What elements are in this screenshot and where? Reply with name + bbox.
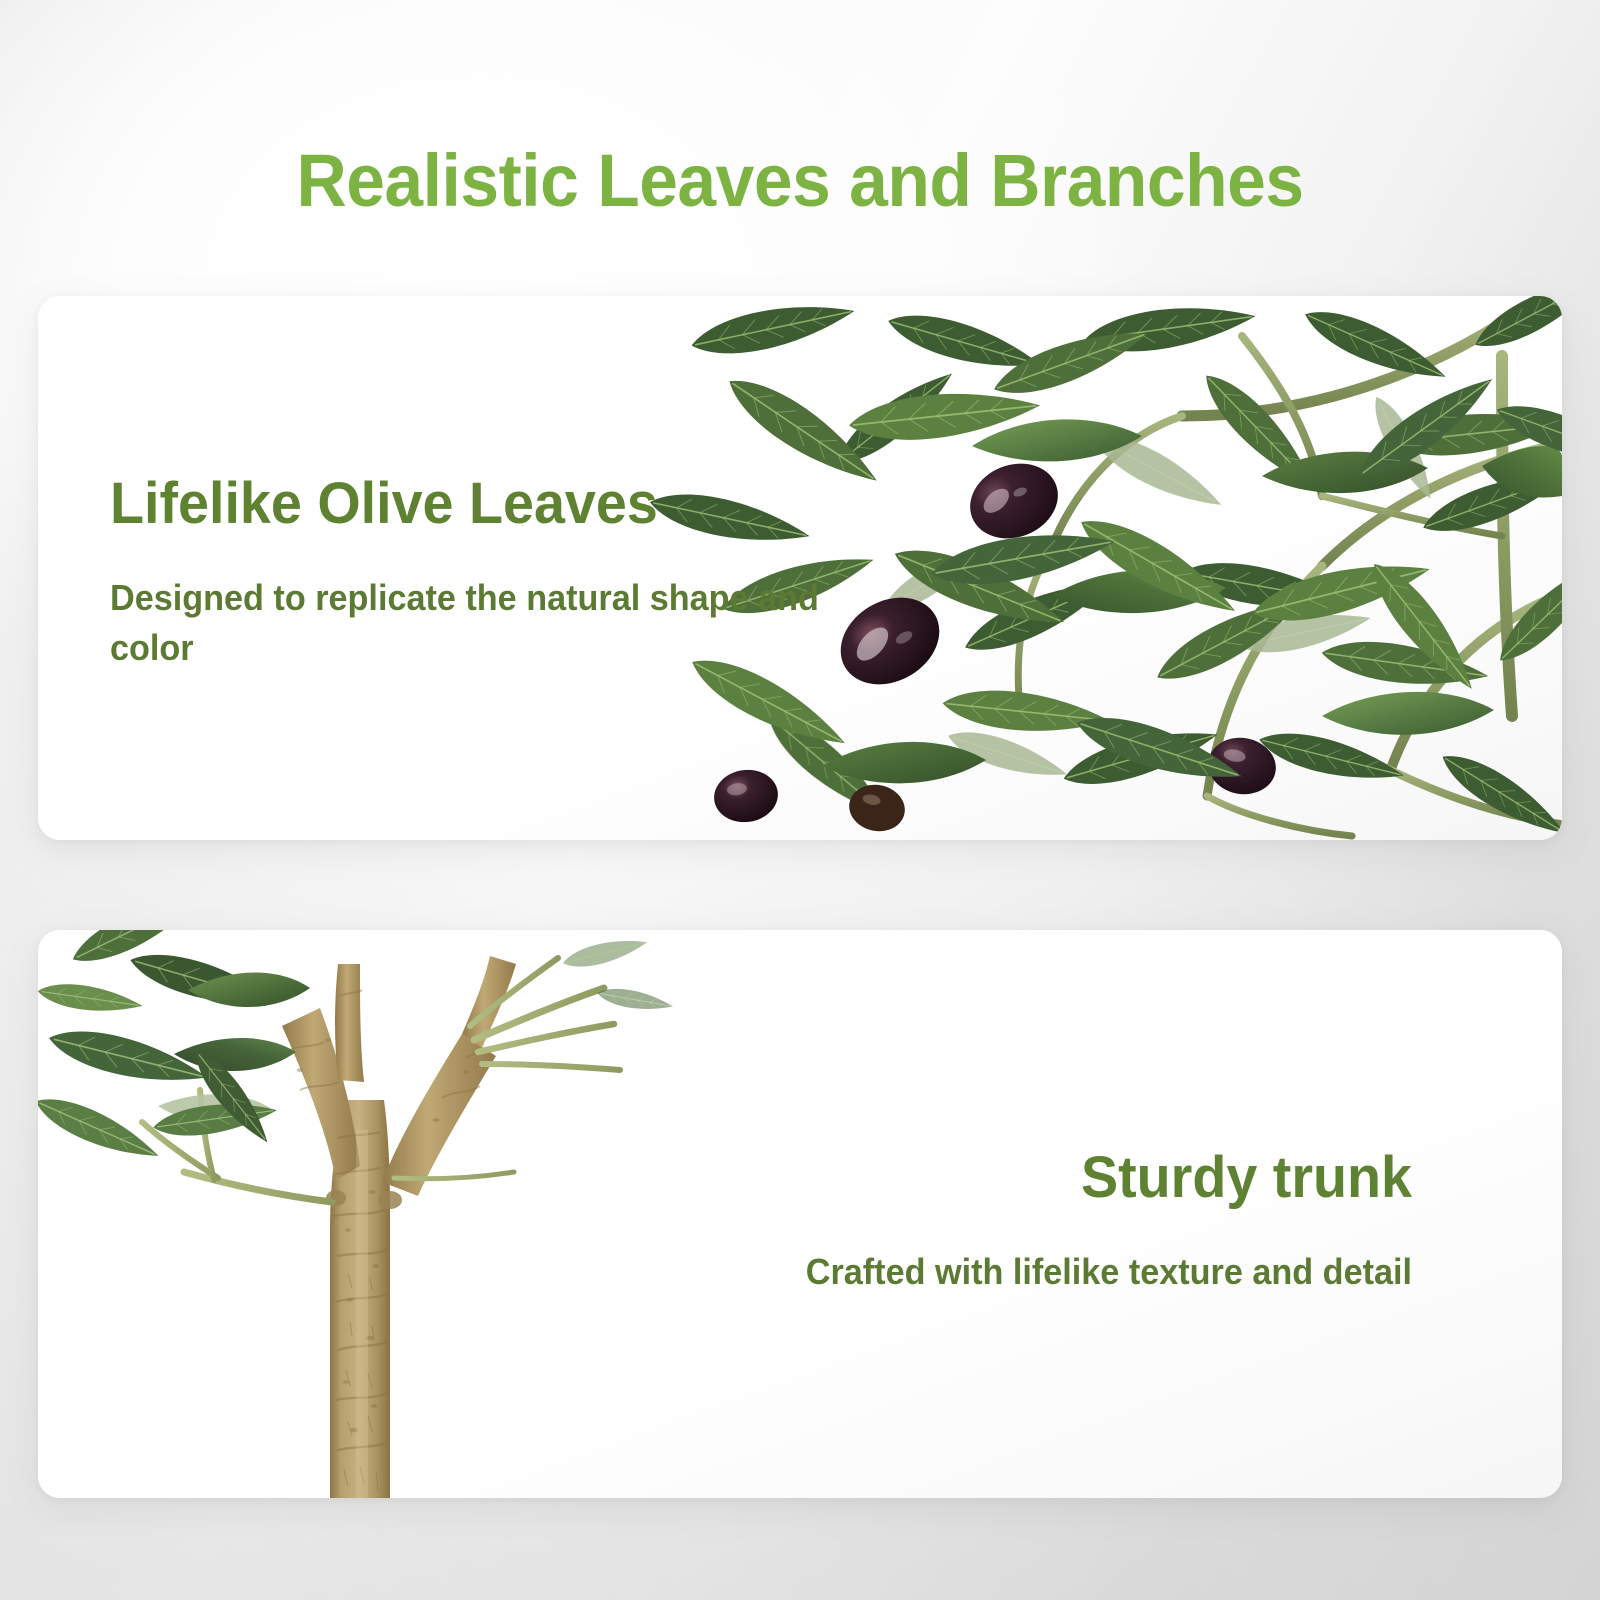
feature-card-leaves: Lifelike Olive Leaves Designed to replic… [38,296,1562,840]
product-feature-page: Realistic Leaves and Branches [0,0,1600,1600]
leaves-heading: Lifelike Olive Leaves [110,471,897,537]
trunk-text-block: Sturdy trunk Crafted with lifelike textu… [512,1145,1412,1297]
feature-card-trunk: Sturdy trunk Crafted with lifelike textu… [38,930,1562,1498]
trunk-heading: Sturdy trunk [548,1145,1412,1211]
trunk-subtitle: Crafted with lifelike texture and detail [557,1247,1412,1297]
leaves-text-block: Lifelike Olive Leaves Designed to replic… [110,471,930,673]
page-title: Realistic Leaves and Branches [48,138,1552,224]
leaves-subtitle: Designed to replicate the natural shape … [110,573,889,673]
